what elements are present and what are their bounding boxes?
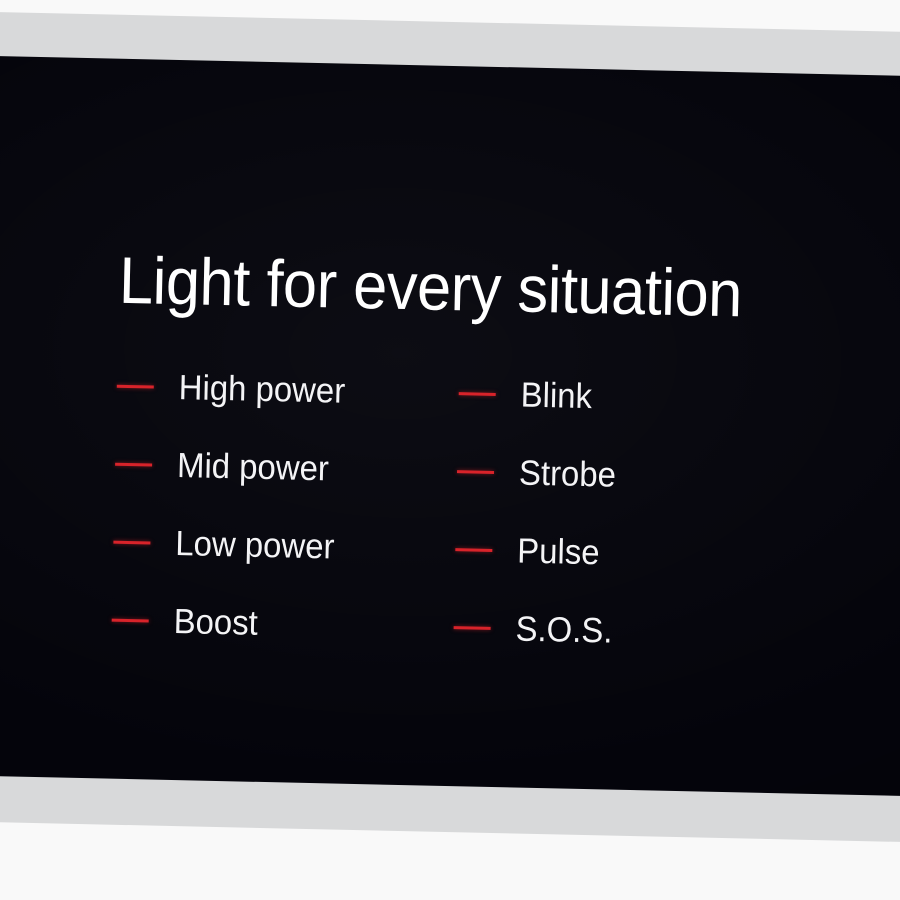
list-item: High power: [116, 347, 478, 433]
dash-icon: [459, 392, 496, 396]
light-mode-column-right: Blink Strobe Pulse S.O.S.: [453, 354, 820, 674]
list-item-label: Mid power: [177, 448, 329, 486]
dash-icon: [117, 384, 154, 388]
dash-icon: [457, 470, 494, 474]
dash-icon: [112, 618, 149, 622]
list-item: Blink: [458, 354, 820, 440]
list-item: Mid power: [114, 425, 476, 511]
list-item-label: Low power: [175, 526, 335, 564]
list-item: Pulse: [454, 510, 816, 596]
list-item-label: Strobe: [519, 455, 617, 492]
list-item-label: S.O.S.: [515, 611, 613, 648]
list-item: Strobe: [456, 432, 818, 518]
list-item-label: Blink: [520, 377, 592, 414]
light-mode-column-left: High power Mid power Low power Boost: [111, 347, 478, 667]
list-item-label: Pulse: [517, 533, 600, 570]
poster-slide: Light for every situation High power Mid…: [0, 11, 900, 843]
page-title: Light for every situation: [118, 247, 742, 327]
dash-icon: [113, 540, 150, 544]
list-item: Boost: [111, 581, 473, 667]
list-item-label: High power: [178, 370, 345, 409]
dash-icon: [115, 462, 152, 466]
light-mode-list: High power Mid power Low power Boost: [118, 347, 878, 364]
poster-stage: Light for every situation High power Mid…: [0, 0, 900, 900]
poster-content: Light for every situation High power Mid…: [0, 55, 900, 797]
list-item: Low power: [113, 503, 475, 589]
list-item: S.O.S.: [453, 588, 815, 674]
dash-icon: [455, 548, 492, 552]
dash-icon: [454, 626, 491, 630]
list-item-label: Boost: [173, 604, 258, 641]
